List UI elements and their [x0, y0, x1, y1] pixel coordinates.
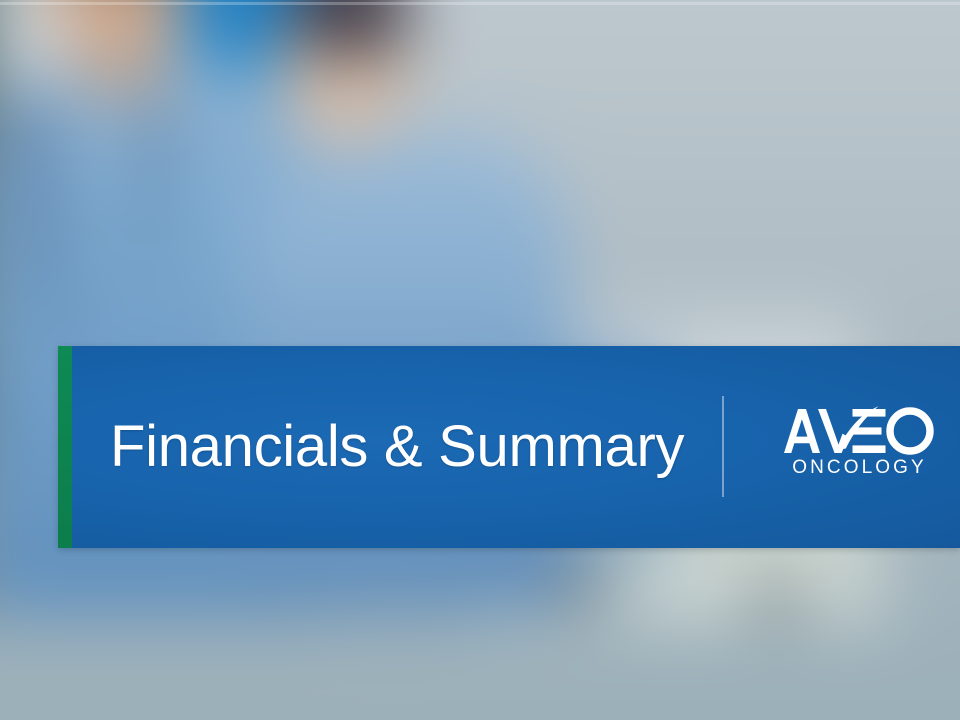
aveo-wordmark-icon [778, 403, 938, 459]
aveo-logo-tagline: ONCOLOGY [779, 458, 937, 477]
background-top-highlight-line [0, 2, 960, 5]
presentation-slide: Financials & Summary ONCOL [0, 0, 960, 720]
background-equipment-spot-right [742, 580, 812, 616]
slide-title: Financials & Summary [110, 418, 684, 476]
title-banner: Financials & Summary ONCOL [58, 346, 960, 548]
banner-body: Financials & Summary ONCOL [72, 346, 960, 548]
aveo-oncology-logo: ONCOLOGY [778, 403, 938, 487]
banner-green-accent-bar [58, 346, 72, 548]
background-equipment-spot-left [552, 564, 614, 606]
photo-person-right-hair [284, 0, 408, 58]
banner-vertical-divider [722, 396, 724, 497]
photo-person-left-neck [76, 62, 168, 132]
